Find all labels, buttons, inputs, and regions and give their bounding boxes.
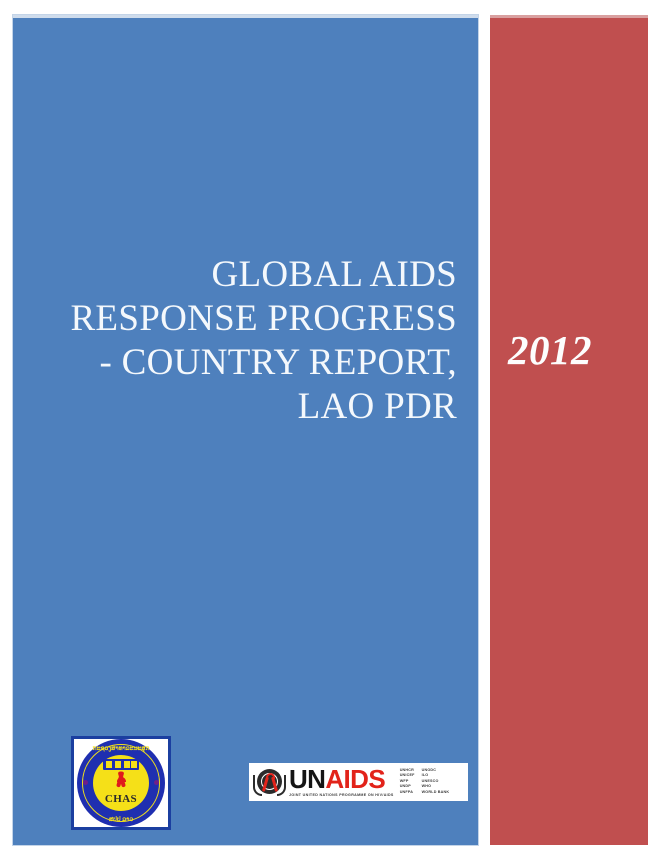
title-line-1: GLOBAL AIDS [37, 253, 457, 297]
cosponsor-item: WORLD BANK [422, 790, 450, 795]
chas-acronym-label: CHAS [77, 793, 165, 805]
chas-dot-right [154, 780, 159, 785]
unaids-wordmark: UNAIDS JOINT UNITED NATIONS PROGRAMME ON… [289, 767, 394, 798]
red-ribbon-icon [265, 773, 275, 793]
chas-banner-icon [103, 759, 139, 770]
page-title: GLOBAL AIDS RESPONSE PROGRESS - COUNTRY … [37, 253, 457, 429]
cosponsor-item: UNFPA [400, 790, 415, 795]
report-year: 2012 [508, 330, 592, 371]
title-panel: GLOBAL AIDS RESPONSE PROGRESS - COUNTRY … [13, 15, 478, 845]
title-line-3: - COUNTRY REPORT, [37, 341, 457, 385]
chas-arc-top-label: ກະຊວງສາທາລະນະສຸກ [77, 745, 165, 752]
unaids-tagline: JOINT UNITED NATIONS PROGRAMME ON HIV/AI… [289, 792, 394, 798]
chas-arc-bottom-label: ສປປ ລາວ [77, 816, 165, 823]
unaids-name: UNAIDS [289, 767, 394, 792]
unaids-aids-text: AIDS [325, 764, 385, 794]
cosponsor-column-left: UNHCR UNICEF WFP UNDP UNFPA [400, 768, 415, 795]
united-nations-emblem-icon [254, 767, 285, 798]
red-ribbon-icon [116, 771, 127, 793]
unaids-logo: UNAIDS JOINT UNITED NATIONS PROGRAMME ON… [249, 763, 468, 801]
unaids-un-text: UN [289, 764, 325, 794]
cosponsor-column-right: UNODC ILO UNESCO WHO WORLD BANK [422, 768, 450, 795]
chas-emblem-icon: ກະຊວງສາທາລະນະສຸກ ສປປ ລາວ CHAS [77, 739, 165, 827]
title-line-4: LAO PDR [37, 385, 457, 429]
chas-logo: ກະຊວງສາທາລະນະສຸກ ສປປ ລາວ CHAS [71, 736, 171, 830]
unaids-cosponsor-list: UNHCR UNICEF WFP UNDP UNFPA UNODC ILO UN… [400, 768, 450, 795]
title-line-2: RESPONSE PROGRESS [37, 297, 457, 341]
cover-page: GLOBAL AIDS RESPONSE PROGRESS - COUNTRY … [0, 0, 670, 867]
year-panel: 2012 [490, 15, 648, 845]
chas-dot-left [83, 780, 88, 785]
